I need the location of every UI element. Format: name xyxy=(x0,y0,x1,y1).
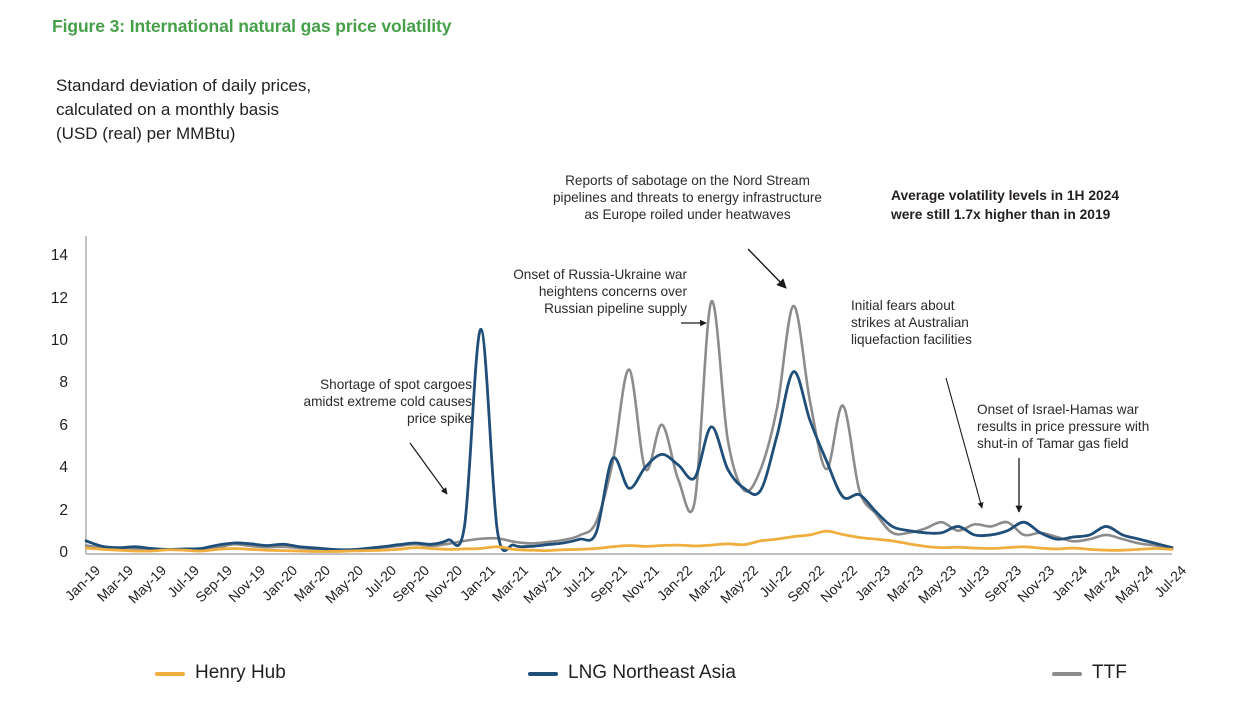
legend-label-lng-northeast-asia: LNG Northeast Asia xyxy=(568,662,736,684)
y-tick-label: 0 xyxy=(34,544,68,562)
arrow-nord-stream xyxy=(748,249,786,288)
y-tick-label: 8 xyxy=(34,374,68,392)
series-line-lng-northeast-asia xyxy=(86,329,1172,550)
legend-label-henry-hub: Henry Hub xyxy=(195,662,286,684)
y-tick-label: 14 xyxy=(34,247,68,265)
series-layer xyxy=(86,301,1172,551)
y-tick-label: 12 xyxy=(34,290,68,308)
y-tick-label: 4 xyxy=(34,459,68,477)
annotation-arrows xyxy=(410,249,1019,512)
arrow-spot-cargoes xyxy=(410,443,447,494)
legend-swatch-ttf xyxy=(1052,672,1082,676)
y-tick-label: 10 xyxy=(34,332,68,350)
y-tick-label: 6 xyxy=(34,417,68,435)
arrow-australian-strikes xyxy=(946,378,982,508)
y-tick-label: 2 xyxy=(34,502,68,520)
series-line-ttf xyxy=(86,301,1172,550)
chart-legend: Henry Hub LNG Northeast Asia TTF xyxy=(0,660,1235,700)
legend-swatch-henry-hub xyxy=(155,672,185,676)
legend-label-ttf: TTF xyxy=(1092,662,1127,684)
series-line-henry-hub xyxy=(86,531,1172,551)
axis-layer xyxy=(86,236,1172,554)
legend-swatch-lng-northeast-asia xyxy=(528,672,558,676)
